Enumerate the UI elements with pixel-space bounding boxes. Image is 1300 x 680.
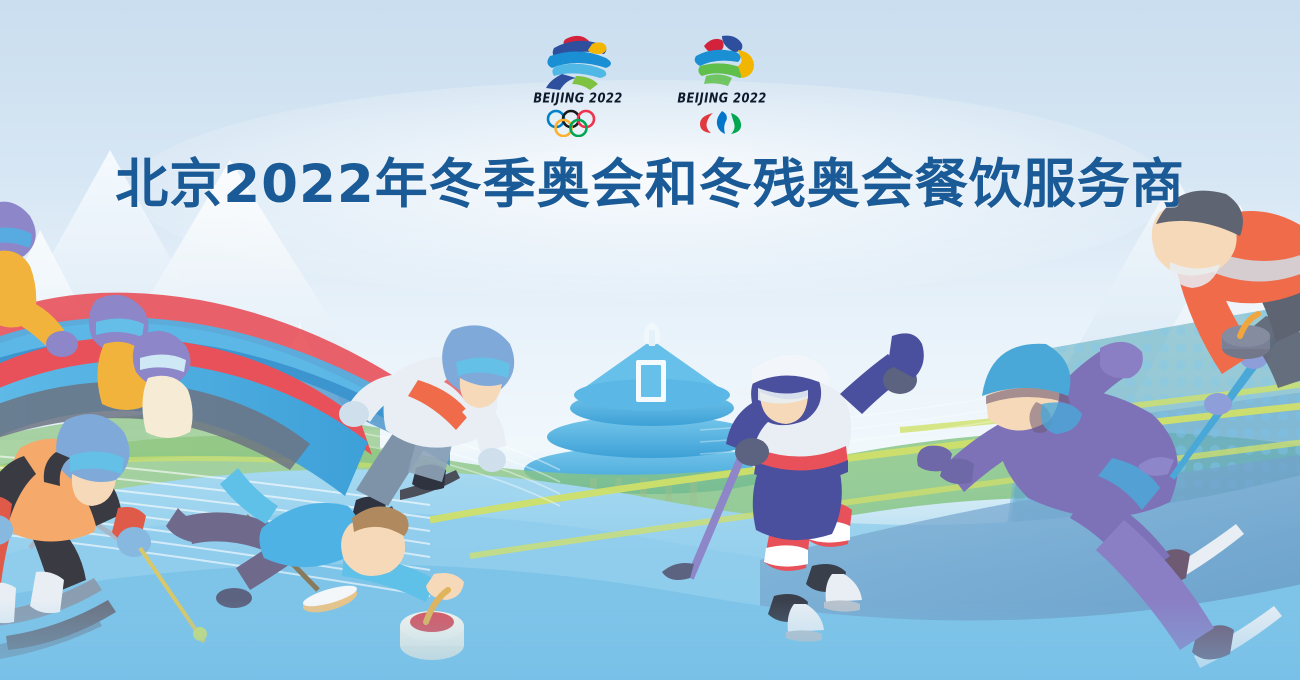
paralympic-wordmark: BEIJING 2022: [677, 90, 766, 106]
emblem-row: BEIJING 2022 BEIJING 2022: [0, 32, 1300, 140]
olympic-wordmark: BEIJING 2022: [533, 90, 622, 106]
beijing-2022-olympic-emblem: BEIJING 2022: [530, 32, 626, 140]
paralympic-agitos-icon: [695, 110, 749, 136]
winter-dream-ribbon-icon: [532, 32, 624, 90]
beijing-2022-catering-banner: BEIJING 2022 BEIJING 2022: [0, 0, 1300, 680]
flight-ribbon-icon: [676, 32, 768, 90]
page-title: 北京2022年冬季奥会和冬残奥会餐饮服务商: [0, 142, 1300, 218]
beijing-2022-paralympic-emblem: BEIJING 2022: [674, 32, 770, 140]
olympic-rings-icon: [543, 109, 613, 137]
